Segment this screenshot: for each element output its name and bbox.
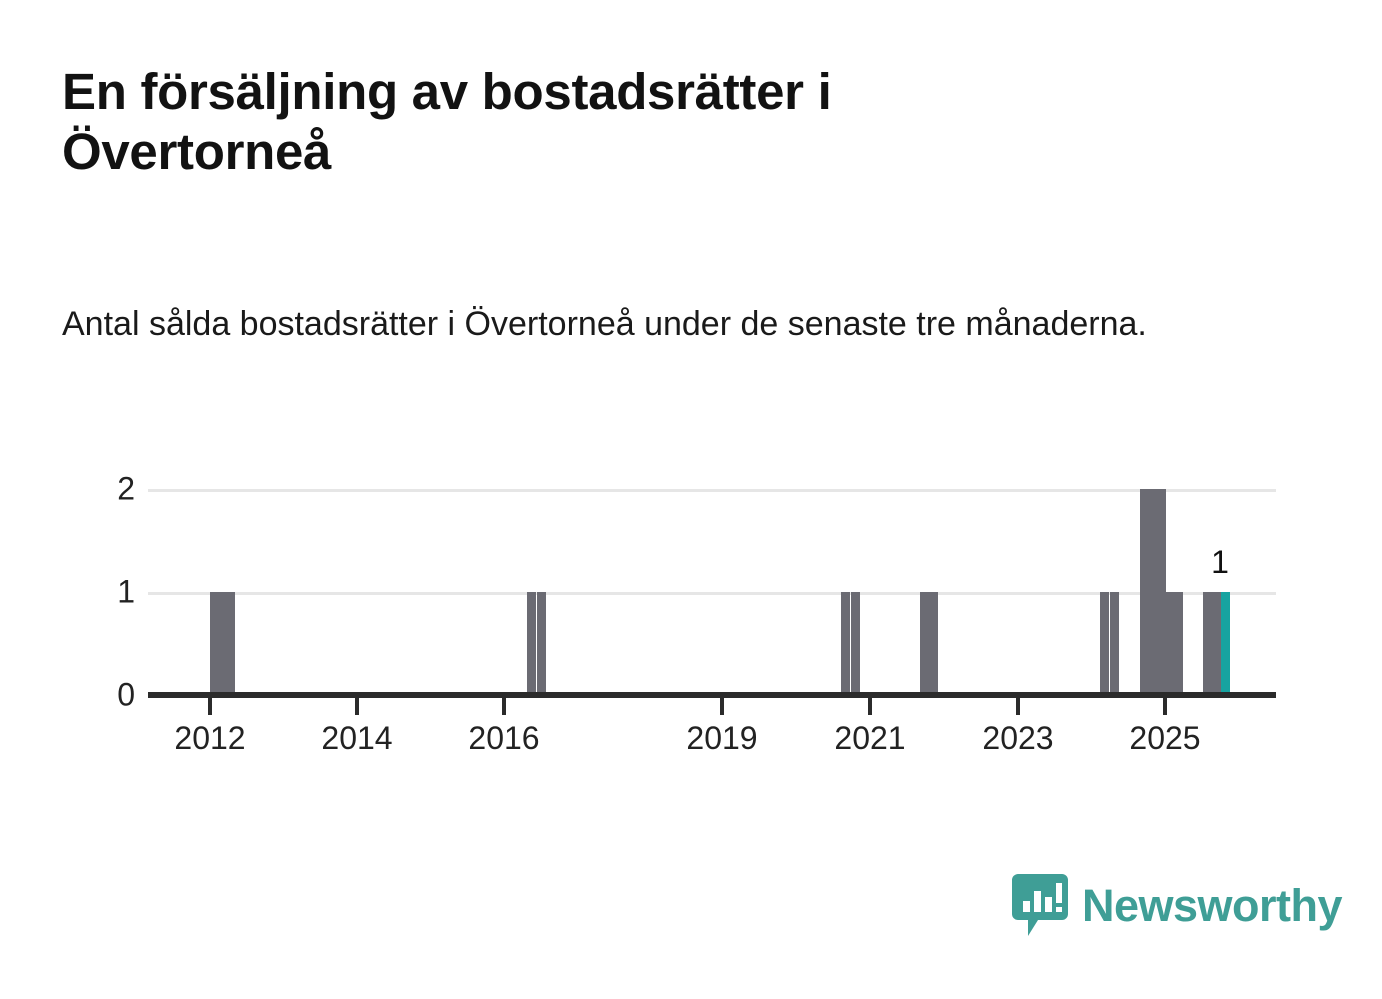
gridline bbox=[148, 489, 1276, 492]
bar[interactable] bbox=[527, 592, 536, 695]
bar[interactable] bbox=[226, 592, 235, 695]
bar-chart: 012 20122014201620192021202320251 bbox=[0, 0, 1382, 999]
bar[interactable] bbox=[1110, 592, 1119, 695]
chart-page: En försäljning av bostadsrätter i Överto… bbox=[0, 0, 1382, 999]
x-axis-tick bbox=[868, 698, 872, 715]
bar[interactable] bbox=[1100, 592, 1109, 695]
bar[interactable] bbox=[1148, 489, 1157, 695]
x-axis-tick bbox=[1016, 698, 1020, 715]
y-axis-tick-label: 0 bbox=[95, 677, 135, 714]
y-axis-labels: 012 bbox=[95, 489, 135, 695]
x-axis-tick bbox=[720, 698, 724, 715]
bar[interactable] bbox=[537, 592, 546, 695]
bar-chart-speech-bubble-icon bbox=[1012, 874, 1068, 936]
bar[interactable] bbox=[851, 592, 860, 695]
x-axis-line bbox=[148, 692, 1276, 698]
bar[interactable] bbox=[1203, 592, 1212, 695]
x-axis-tick bbox=[355, 698, 359, 715]
x-axis-tick-label: 2021 bbox=[834, 720, 905, 757]
plot-area bbox=[148, 489, 1276, 695]
x-axis-tick bbox=[208, 698, 212, 715]
newsworthy-logo: Newsworthy bbox=[1012, 874, 1342, 936]
bar[interactable] bbox=[1212, 592, 1221, 695]
x-axis-tick-label: 2016 bbox=[468, 720, 539, 757]
bar-highlighted[interactable] bbox=[1221, 592, 1230, 695]
x-axis-tick-label: 2012 bbox=[174, 720, 245, 757]
x-axis-tick-label: 2025 bbox=[1129, 720, 1200, 757]
x-axis-tick-label: 2023 bbox=[982, 720, 1053, 757]
bar[interactable] bbox=[920, 592, 929, 695]
bar-value-label: 1 bbox=[1211, 544, 1229, 581]
y-axis-tick-label: 1 bbox=[95, 574, 135, 611]
x-axis-tick bbox=[1163, 698, 1167, 715]
bar[interactable] bbox=[841, 592, 850, 695]
x-axis-tick-label: 2019 bbox=[686, 720, 757, 757]
brand-name: Newsworthy bbox=[1082, 883, 1342, 928]
y-axis-tick-label: 2 bbox=[95, 471, 135, 508]
x-axis-tick-label: 2014 bbox=[321, 720, 392, 757]
bar[interactable] bbox=[929, 592, 938, 695]
x-axis-tick bbox=[502, 698, 506, 715]
bar[interactable] bbox=[1174, 592, 1183, 695]
bar[interactable] bbox=[1165, 592, 1174, 695]
